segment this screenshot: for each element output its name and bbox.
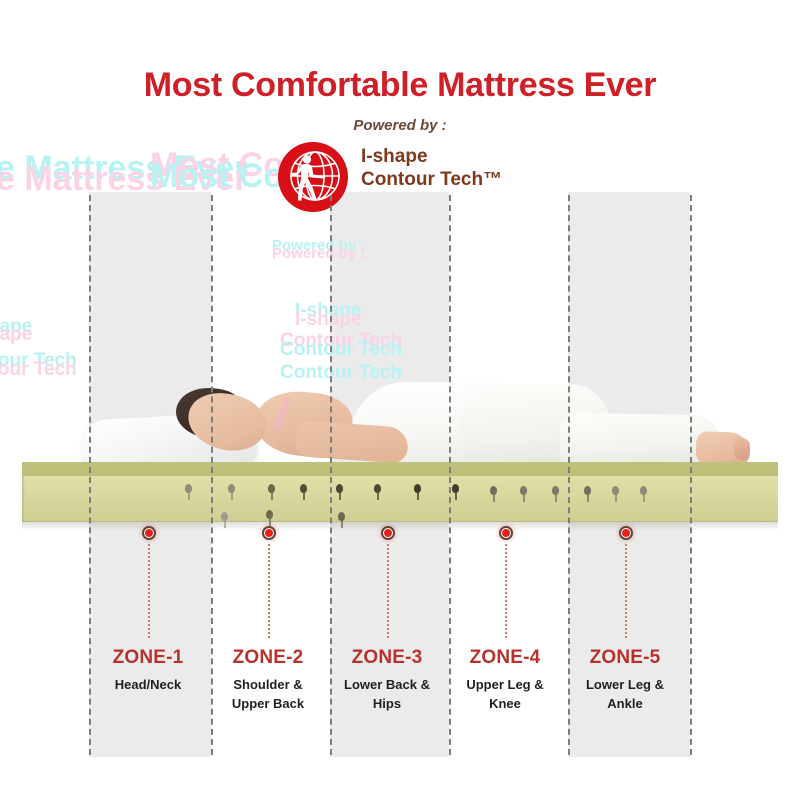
page-title: Most Comfortable Mattress Ever <box>0 66 800 105</box>
marker-dot <box>265 529 273 537</box>
zone-3-marker[interactable] <box>377 522 399 544</box>
logo-text: I-shape Contour Tech™ <box>361 145 502 191</box>
mattress-tuft <box>228 484 235 493</box>
globe-person-icon <box>277 141 349 213</box>
ghost-text-2: Most Co <box>150 146 284 185</box>
mattress-left-edge <box>22 476 25 522</box>
zone-5-desc: Lower Leg &Ankle <box>550 676 700 714</box>
zone-3-lead-line <box>387 544 389 638</box>
powered-by-label: Powered by : <box>0 117 800 134</box>
zone-5-desc-line: Ankle <box>550 695 700 714</box>
zone-1-marker[interactable] <box>138 522 160 544</box>
zone-5-name: ZONE-5 <box>550 648 700 669</box>
toes <box>734 438 750 460</box>
zone-2-marker[interactable] <box>258 522 280 544</box>
zone-4-marker[interactable] <box>495 522 517 544</box>
mattress-tuft <box>185 484 192 493</box>
brand-logo: I-shape Contour Tech™ <box>277 141 527 217</box>
sleeping-person-illustration <box>60 366 720 476</box>
mattress-tuft <box>612 486 619 495</box>
ghost-text-5: hape <box>0 324 32 346</box>
mattress-tuft <box>640 486 647 495</box>
mattress-tuft <box>452 484 459 493</box>
marker-dot <box>622 529 630 537</box>
mattress-tuft <box>221 512 228 521</box>
mattress-tuft <box>414 484 421 493</box>
mattress-tuft <box>374 484 381 493</box>
ghost-text-3: Most Co <box>150 157 284 196</box>
marker-dot <box>384 529 392 537</box>
zone-5-desc-line: Lower Leg & <box>550 676 700 695</box>
mattress-tuft <box>338 512 345 521</box>
ghost-text-4: hape <box>0 316 32 338</box>
ghost-text-0: e Mattress Ever <box>0 149 247 188</box>
mattress-tuft <box>336 484 343 493</box>
zone-2-lead-line <box>268 544 270 638</box>
mattress-shadow <box>22 521 778 531</box>
mattress-tuft <box>268 484 275 493</box>
marker-dot <box>145 529 153 537</box>
mattress-tuft <box>520 486 527 495</box>
arm <box>295 420 409 464</box>
infographic-canvas: e Mattress Evere Mattress EverMost CoMos… <box>0 0 800 800</box>
zone-1-lead-line <box>148 544 150 638</box>
zone-5-lead-line <box>625 544 627 638</box>
mattress-tuft <box>552 486 559 495</box>
marker-dot <box>502 529 510 537</box>
mattress-tuft <box>266 510 273 519</box>
mattress-front-face <box>22 476 778 522</box>
mattress-tuft <box>490 486 497 495</box>
mattress-tuft <box>300 484 307 493</box>
logo-line-1: I-shape <box>361 145 502 168</box>
mattress-tuft <box>584 486 591 495</box>
zone-4-lead-line <box>505 544 507 638</box>
logo-line-2: Contour Tech™ <box>361 168 502 191</box>
zone-5-label: ZONE-5Lower Leg &Ankle <box>550 648 700 714</box>
zone-5-marker[interactable] <box>615 522 637 544</box>
